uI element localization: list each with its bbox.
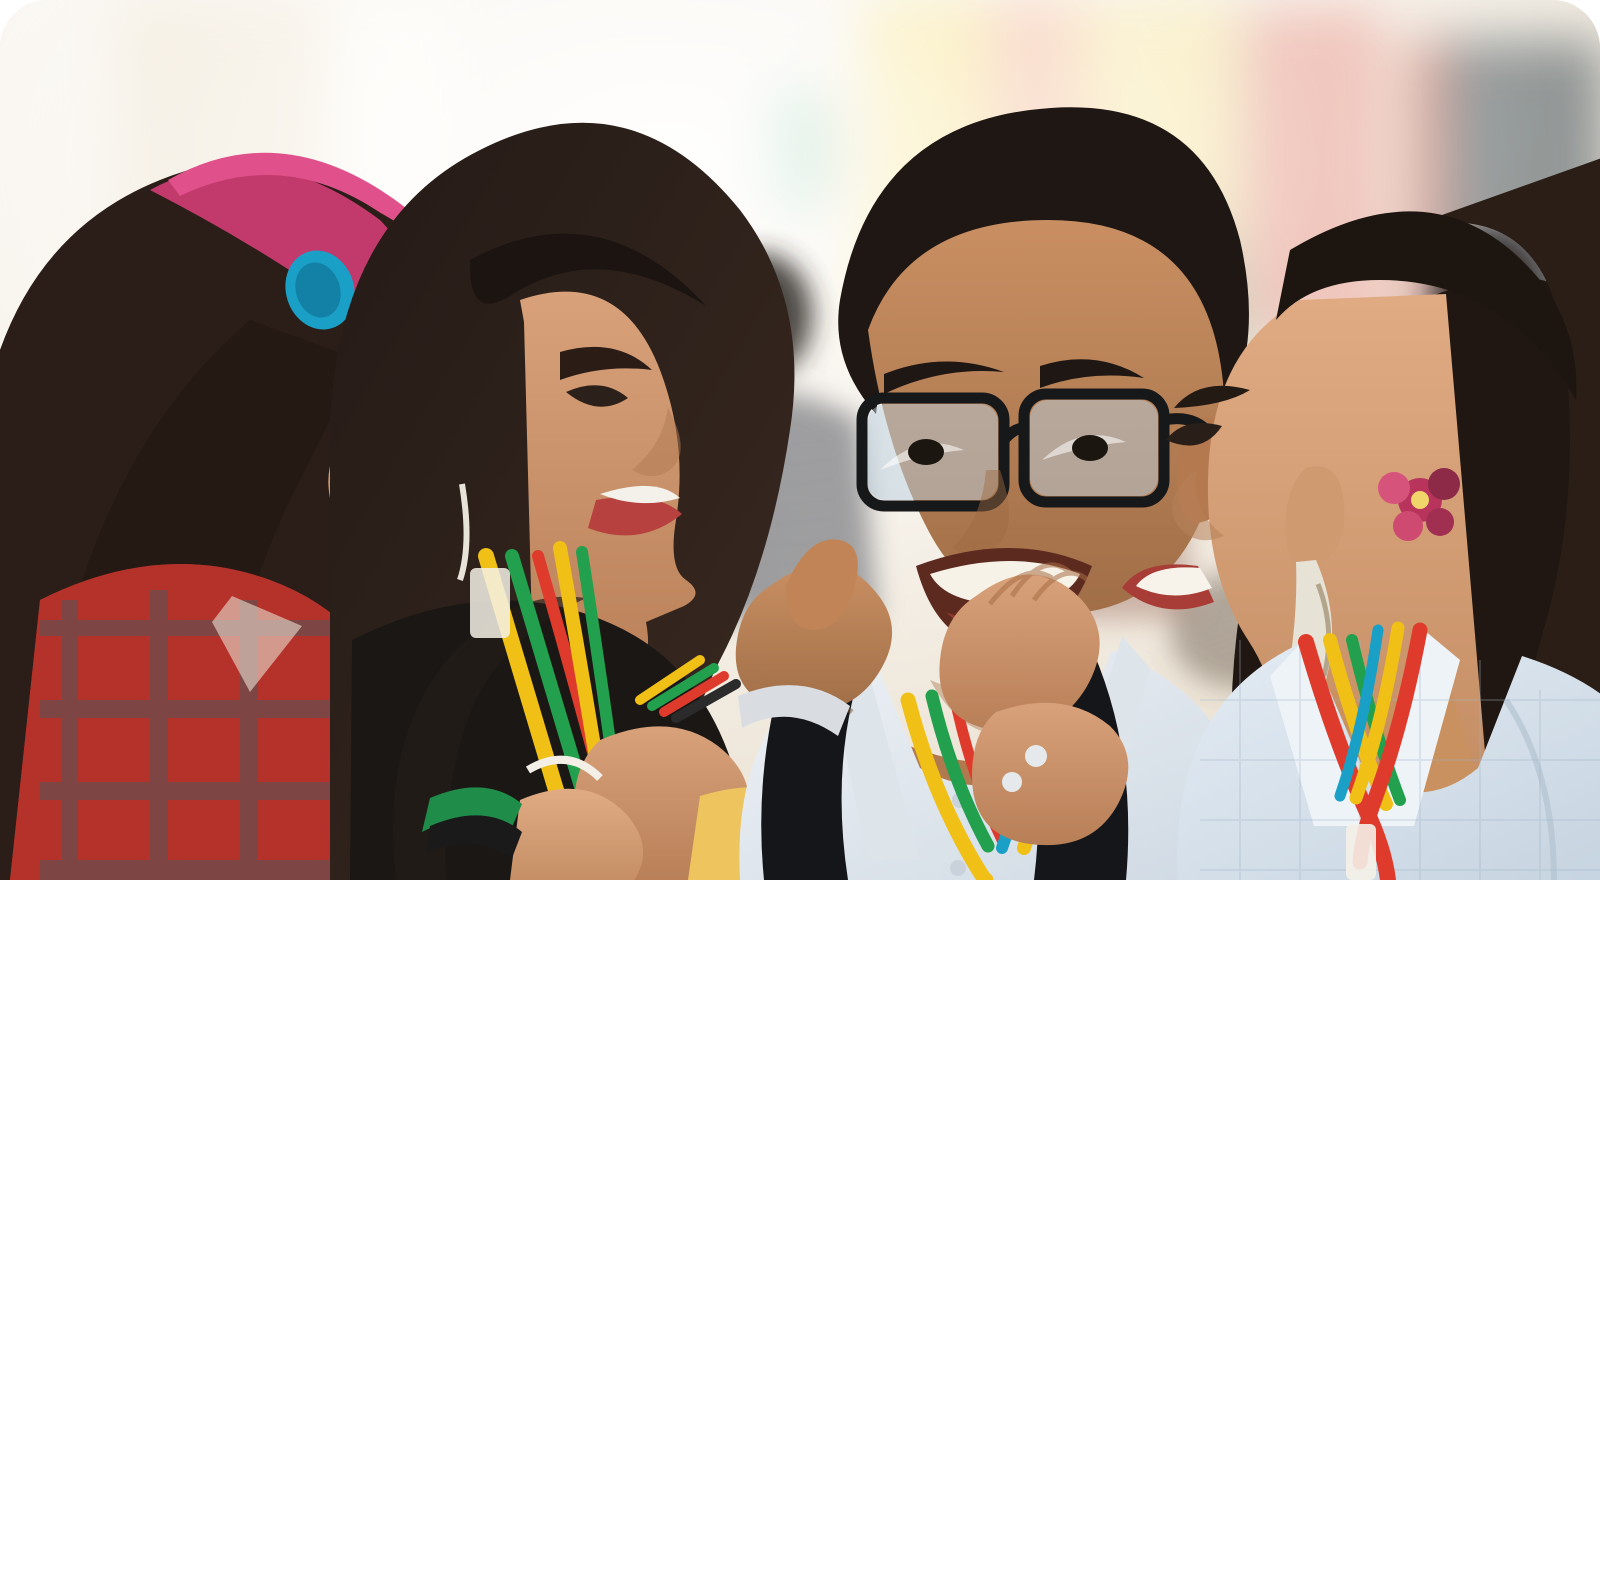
feature-card: Events, Fests & Hackathons Showcase your…: [0, 0, 1600, 1594]
card-content: Events, Fests & Hackathons Showcase your…: [0, 880, 1600, 1594]
card-hero-image: [0, 0, 1600, 880]
